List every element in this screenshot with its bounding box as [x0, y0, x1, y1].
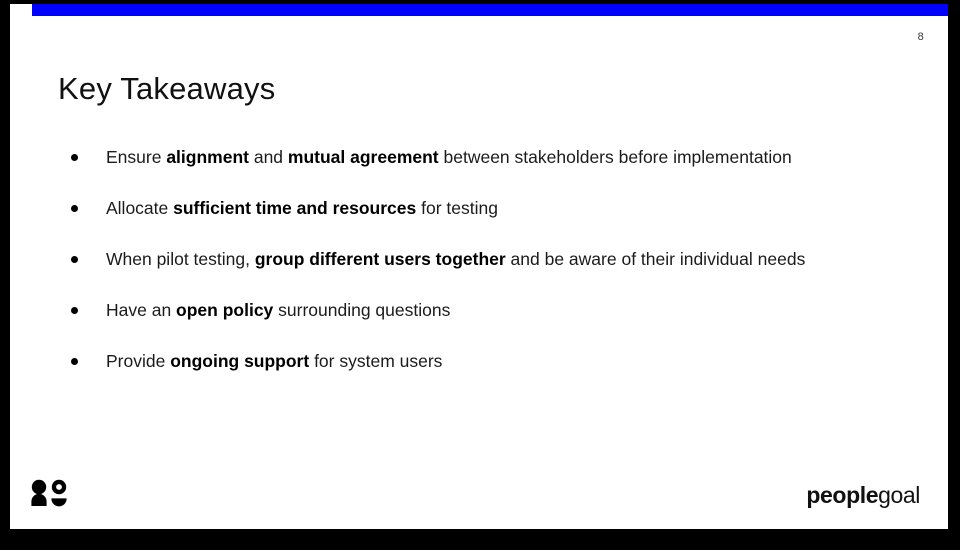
top-accent-bar: [32, 4, 948, 16]
list-item-text: When pilot testing, group different user…: [106, 249, 805, 271]
bullet-dot-icon: [71, 154, 78, 161]
wordmark-bold-part: people: [806, 482, 878, 508]
list-item: Ensure alignment and mutual agreement be…: [58, 132, 918, 183]
bullet-dot-icon: [71, 307, 78, 314]
bullet-dot-icon: [71, 358, 78, 365]
list-item: When pilot testing, group different user…: [58, 234, 918, 285]
list-item: Provide ongoing support for system users: [58, 336, 918, 387]
list-item-text: Ensure alignment and mutual agreement be…: [106, 147, 792, 169]
slide-canvas: 8 Key Takeaways Ensure alignment and mut…: [10, 4, 948, 529]
bullet-dot-icon: [71, 256, 78, 263]
peoplegoal-wordmark: peoplegoal: [806, 484, 920, 507]
page-number: 8: [918, 32, 924, 43]
slide-frame: 8 Key Takeaways Ensure alignment and mut…: [0, 0, 960, 550]
key-takeaways-list: Ensure alignment and mutual agreement be…: [58, 132, 918, 387]
page-title: Key Takeaways: [58, 71, 275, 107]
list-item-text: Allocate sufficient time and resources f…: [106, 198, 498, 220]
wordmark-light-part: goal: [878, 482, 920, 508]
bullet-dot-icon: [71, 205, 78, 212]
list-item: Allocate sufficient time and resources f…: [58, 183, 918, 234]
people-group-icon: [28, 479, 70, 507]
list-item: Have an open policy surrounding question…: [58, 285, 918, 336]
list-item-text: Have an open policy surrounding question…: [106, 300, 450, 322]
list-item-text: Provide ongoing support for system users: [106, 351, 442, 373]
